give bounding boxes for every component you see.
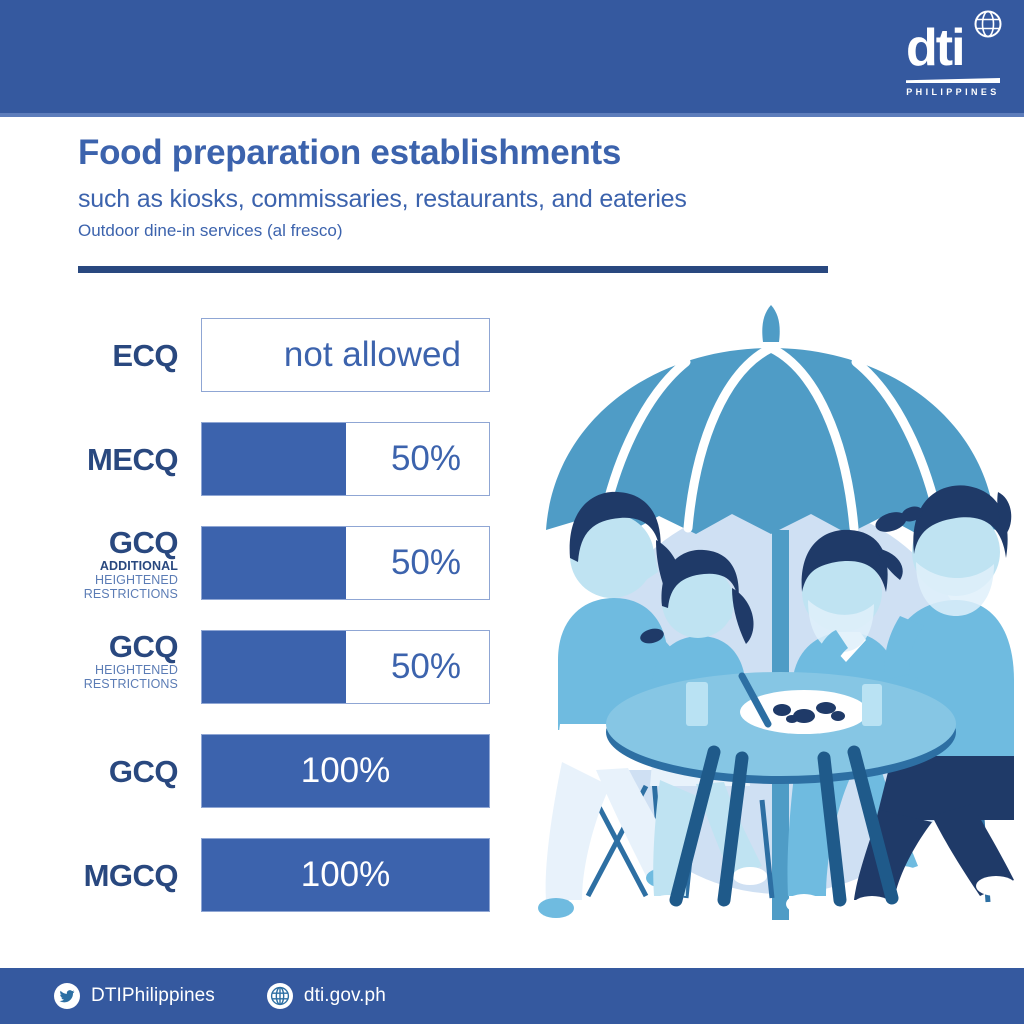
title-block: Food preparation establishments such as …: [78, 132, 878, 242]
page-title: Food preparation establishments: [78, 132, 878, 174]
title-divider: [78, 266, 828, 273]
bar-value-label: not allowed: [202, 319, 489, 391]
bar-value-label: 50%: [202, 527, 489, 599]
twitter-icon: [54, 983, 80, 1009]
page-subtitle: such as kiosks, commissaries, restaurant…: [78, 184, 878, 214]
twitter-handle[interactable]: DTIPhilippines: [54, 983, 215, 1009]
level-sub-bold: ADDITIONAL: [100, 559, 178, 573]
page-note: Outdoor dine-in services (al fresco): [78, 220, 878, 242]
level-name: GCQ: [109, 630, 178, 663]
globe-icon: [974, 10, 1002, 38]
illustration-svg: [536, 300, 1014, 920]
level-sub-light: HEIGHTENEDRESTRICTIONS: [84, 663, 178, 691]
dti-logo: dti PHILIPPINES: [898, 8, 1006, 104]
level-label-mecq: MECQ: [38, 422, 178, 496]
list-item: GCQ HEIGHTENEDRESTRICTIONS 50%: [0, 630, 540, 734]
capacity-bar-gcq-heightened: 50%: [201, 630, 490, 704]
level-label-gcq: GCQ: [38, 734, 178, 808]
list-item: MGCQ 100%: [0, 838, 540, 942]
level-label-gcq-heightened: GCQ HEIGHTENEDRESTRICTIONS: [38, 630, 178, 704]
level-name: MECQ: [87, 443, 178, 476]
list-item: GCQ ADDITIONAL HEIGHTENEDRESTRICTIONS 50…: [0, 526, 540, 630]
capacity-bar-ecq: not allowed: [201, 318, 490, 392]
capacity-bar-gcq: 100%: [201, 734, 490, 808]
capacity-bar-gcq-additional: 50%: [201, 526, 490, 600]
bar-value-label: 100%: [202, 839, 489, 911]
list-item: MECQ 50%: [0, 422, 540, 526]
website-label: dti.gov.ph: [304, 985, 386, 1007]
twitter-handle-label: DTIPhilippines: [91, 985, 215, 1007]
list-item: ECQ not allowed: [0, 318, 540, 422]
logo-country: PHILIPPINES: [906, 87, 1000, 97]
website-link[interactable]: dti.gov.ph: [267, 983, 386, 1009]
level-label-ecq: ECQ: [38, 318, 178, 392]
outdoor-dining-illustration: [536, 300, 1014, 920]
level-sub-light: HEIGHTENEDRESTRICTIONS: [84, 573, 178, 601]
level-label-gcq-additional: GCQ ADDITIONAL HEIGHTENEDRESTRICTIONS: [38, 526, 178, 600]
list-item: GCQ 100%: [0, 734, 540, 838]
level-label-mgcq: MGCQ: [38, 838, 178, 912]
level-name: MGCQ: [84, 859, 178, 892]
bar-value-label: 50%: [202, 631, 489, 703]
logo-underbar: [906, 78, 1000, 83]
umbrella-finial: [762, 305, 779, 342]
bar-value-label: 50%: [202, 423, 489, 495]
globe-icon: [267, 983, 293, 1009]
dining-table: [606, 672, 956, 784]
footer-bar: DTIPhilippines dti.gov.ph: [0, 968, 1024, 1024]
capacity-bar-mecq: 50%: [201, 422, 490, 496]
capacity-bar-mgcq: 100%: [201, 838, 490, 912]
logo-wordmark: dti: [906, 22, 964, 74]
header-bar: dti PHILIPPINES: [0, 0, 1024, 113]
level-name: ECQ: [112, 339, 178, 372]
level-name: GCQ: [109, 526, 178, 559]
header-accent-rule: [0, 113, 1024, 117]
level-name: GCQ: [109, 755, 178, 788]
quarantine-level-list: ECQ not allowed MECQ 50% GCQ ADDITIONAL …: [0, 318, 540, 942]
bar-value-label: 100%: [202, 735, 489, 807]
infographic-page: dti PHILIPPINES Food preparation establi…: [0, 0, 1024, 1024]
